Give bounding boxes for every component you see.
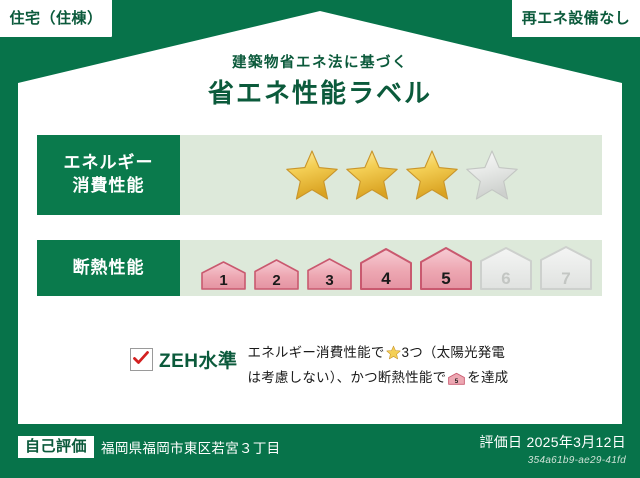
insulation-grade-scale: 1 2 3 4 bbox=[198, 245, 595, 291]
zeh-badge: ZEH水準 bbox=[130, 342, 238, 373]
zeh-label: ZEH水準 bbox=[159, 346, 238, 373]
insulation-grade-number: 2 bbox=[272, 272, 280, 289]
star-rating bbox=[284, 148, 520, 202]
energy-performance-label: 住宅（住棟） 再エネ設備なし 建築物省エネ法に基づく 省エネ性能ラベル エネルギ… bbox=[0, 0, 640, 478]
row-insulation-label: 断熱性能 bbox=[37, 240, 180, 296]
row-energy-consumption-label-line2: 消費性能 bbox=[73, 175, 145, 198]
evaluation-date: 評価日 2025年3月12日 bbox=[479, 432, 626, 452]
insulation-grade-number: 5 bbox=[441, 269, 450, 288]
zeh-desc-part2: 3つ（太陽光発電 bbox=[402, 345, 506, 360]
insulation-grade-house-empty: 6 bbox=[477, 245, 535, 291]
star-icon-inline bbox=[386, 345, 401, 367]
insulation-grade-number: 6 bbox=[501, 269, 510, 288]
insulation-grade-house-inline: 5 bbox=[447, 370, 466, 392]
zeh-desc-part4: を達成 bbox=[467, 370, 508, 385]
building-type-tag-text: 住宅（住棟） bbox=[9, 11, 102, 26]
self-evaluation-group: 自己評価 福岡県福岡市東区若宮３丁目 bbox=[18, 436, 280, 458]
insulation-grade-house-filled: 2 bbox=[251, 250, 302, 291]
footer: 自己評価 福岡県福岡市東区若宮３丁目 評価日 2025年3月12日 354a61… bbox=[0, 424, 640, 478]
zeh-section: ZEH水準 エネルギー消費性能で3つ（太陽光発電は考慮しない）、かつ断熱性能で5… bbox=[130, 342, 518, 393]
insulation-grade-house-filled: 3 bbox=[304, 250, 355, 291]
title-block: 建築物省エネ法に基づく 省エネ性能ラベル bbox=[0, 55, 640, 110]
star-icon-filled bbox=[344, 148, 400, 202]
address-text: 福岡県福岡市東区若宮３丁目 bbox=[101, 437, 280, 457]
insulation-grade-house-current: 5 bbox=[417, 245, 475, 291]
zeh-checkbox[interactable] bbox=[130, 348, 153, 371]
renewable-energy-tag: 再エネ設備なし bbox=[512, 0, 640, 37]
insulation-grade-number: 1 bbox=[219, 272, 227, 289]
renewable-energy-tag-text: 再エネ設備なし bbox=[522, 11, 631, 26]
self-evaluation-badge: 自己評価 bbox=[18, 436, 94, 458]
insulation-grade-house-filled: 4 bbox=[357, 245, 415, 291]
insulation-grade-house-empty: 7 bbox=[537, 245, 595, 291]
star-icon-filled bbox=[284, 148, 340, 202]
footer-right: 評価日 2025年3月12日 354a61b9-ae29-41fd bbox=[479, 432, 626, 466]
star-icon-filled bbox=[404, 148, 460, 202]
row-energy-consumption-label: エネルギー 消費性能 bbox=[37, 135, 180, 215]
title-subtitle: 建築物省エネ法に基づく bbox=[0, 55, 640, 72]
star-icon-empty bbox=[464, 148, 520, 202]
row-energy-consumption: エネルギー 消費性能 bbox=[37, 135, 602, 215]
row-insulation: 断熱性能 bbox=[37, 240, 602, 296]
zeh-desc-part1: エネルギー消費性能で bbox=[248, 345, 385, 360]
insulation-grade-house-filled: 1 bbox=[198, 250, 249, 291]
title-main: 省エネ性能ラベル bbox=[0, 77, 640, 110]
row-insulation-body: 1 2 3 4 bbox=[180, 240, 602, 296]
building-type-tag: 住宅（住棟） bbox=[0, 0, 112, 37]
zeh-desc-part3: は考慮しない）、かつ断熱性能で bbox=[248, 370, 447, 385]
insulation-grade-number: 7 bbox=[561, 269, 570, 288]
inline-grade-number: 5 bbox=[455, 378, 459, 385]
row-energy-consumption-body bbox=[180, 135, 602, 215]
row-energy-consumption-label-line1: エネルギー bbox=[64, 152, 154, 175]
zeh-description: エネルギー消費性能で3つ（太陽光発電は考慮しない）、かつ断熱性能で5を達成 bbox=[248, 342, 518, 393]
insulation-grade-number: 3 bbox=[325, 272, 333, 289]
row-insulation-label-line1: 断熱性能 bbox=[73, 257, 145, 280]
label-id: 354a61b9-ae29-41fd bbox=[479, 455, 626, 466]
check-icon bbox=[133, 351, 149, 366]
insulation-grade-number: 4 bbox=[381, 269, 391, 288]
